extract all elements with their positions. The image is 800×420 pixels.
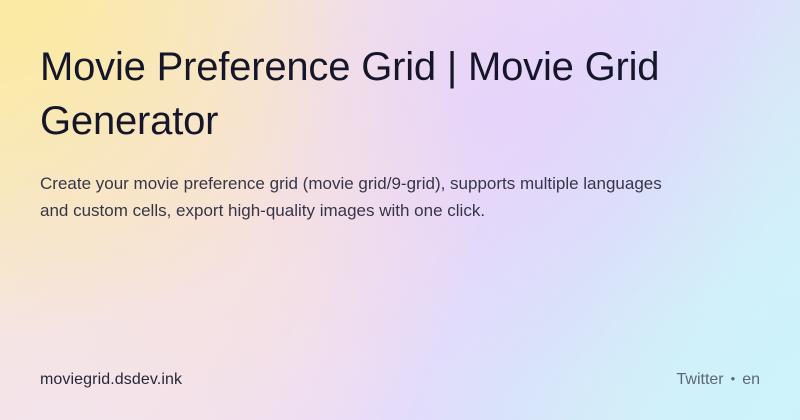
language-indicator[interactable]: en: [742, 370, 760, 390]
site-url: moviegrid.dsdev.ink: [40, 370, 182, 390]
page-title: Movie Preference Grid | Movie Grid Gener…: [40, 40, 700, 148]
card-footer: moviegrid.dsdev.ink Twitter • en: [40, 370, 760, 390]
open-graph-card: Movie Preference Grid | Movie Grid Gener…: [0, 0, 800, 420]
twitter-link[interactable]: Twitter: [677, 370, 724, 390]
card-content: Movie Preference Grid | Movie Grid Gener…: [0, 0, 800, 420]
footer-meta: Twitter • en: [677, 370, 760, 390]
page-description: Create your movie preference grid (movie…: [40, 170, 688, 224]
content-spacer: [40, 224, 760, 370]
bullet-separator-icon: •: [731, 369, 736, 389]
